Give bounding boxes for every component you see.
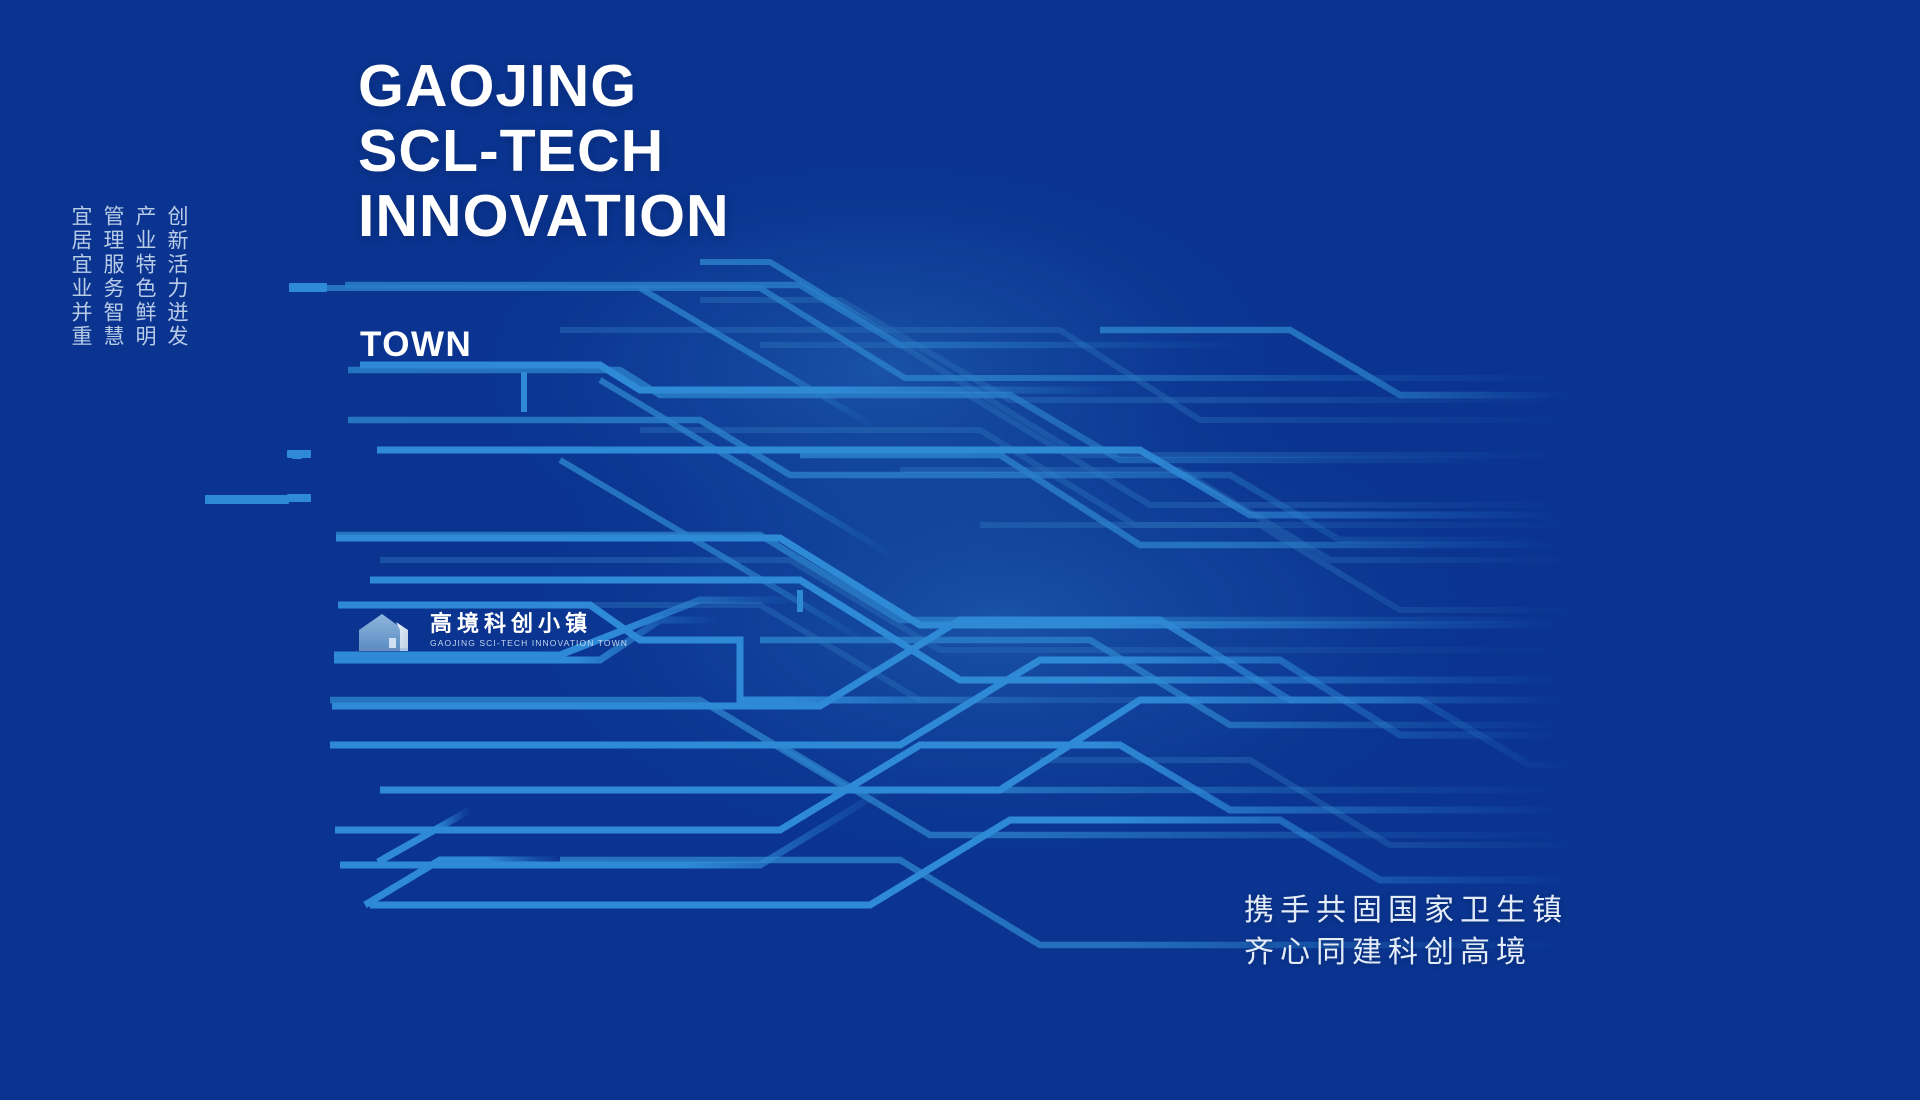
house-building-icon <box>356 608 418 654</box>
title-line-2: SCL-TECH <box>358 123 730 181</box>
title-line-1: GAOJING <box>358 58 730 116</box>
circuit-background <box>0 0 1920 1100</box>
vertical-slogan-col-2: 产业特色鲜明 <box>134 205 155 349</box>
title-line-4: TOWN <box>360 325 472 365</box>
title-line-3: INNOVATION <box>358 188 730 246</box>
logo-name-en: GAOJING SCI-TECH INNOVATION TOWN <box>430 639 628 648</box>
campaign-slogan: 携手共固国家卫生镇 齐心同建科创高境 <box>1244 890 1568 974</box>
slogan-line-1: 携手共固国家卫生镇 <box>1244 890 1568 932</box>
vertical-slogan-col-1: 创新活力迸发 <box>166 205 187 349</box>
slogan-line-2: 齐心同建科创高境 <box>1244 932 1568 974</box>
logo-name-cn: 高境科创小镇 <box>430 614 628 636</box>
vertical-slogan-group: 创新活力迸发 产业特色鲜明 管理服务智慧 宜居宜业并重 <box>70 205 187 349</box>
brand-logo: 高境科创小镇 GAOJING SCI-TECH INNOVATION TOWN <box>356 608 628 654</box>
poster-canvas: 创新活力迸发 产业特色鲜明 管理服务智慧 宜居宜业并重 GAOJING SCL-… <box>0 0 1920 1100</box>
page-title: GAOJING SCL-TECH INNOVATION <box>358 58 730 245</box>
vertical-slogan-col-3: 管理服务智慧 <box>102 205 123 349</box>
vertical-slogan-col-4: 宜居宜业并重 <box>70 205 91 349</box>
